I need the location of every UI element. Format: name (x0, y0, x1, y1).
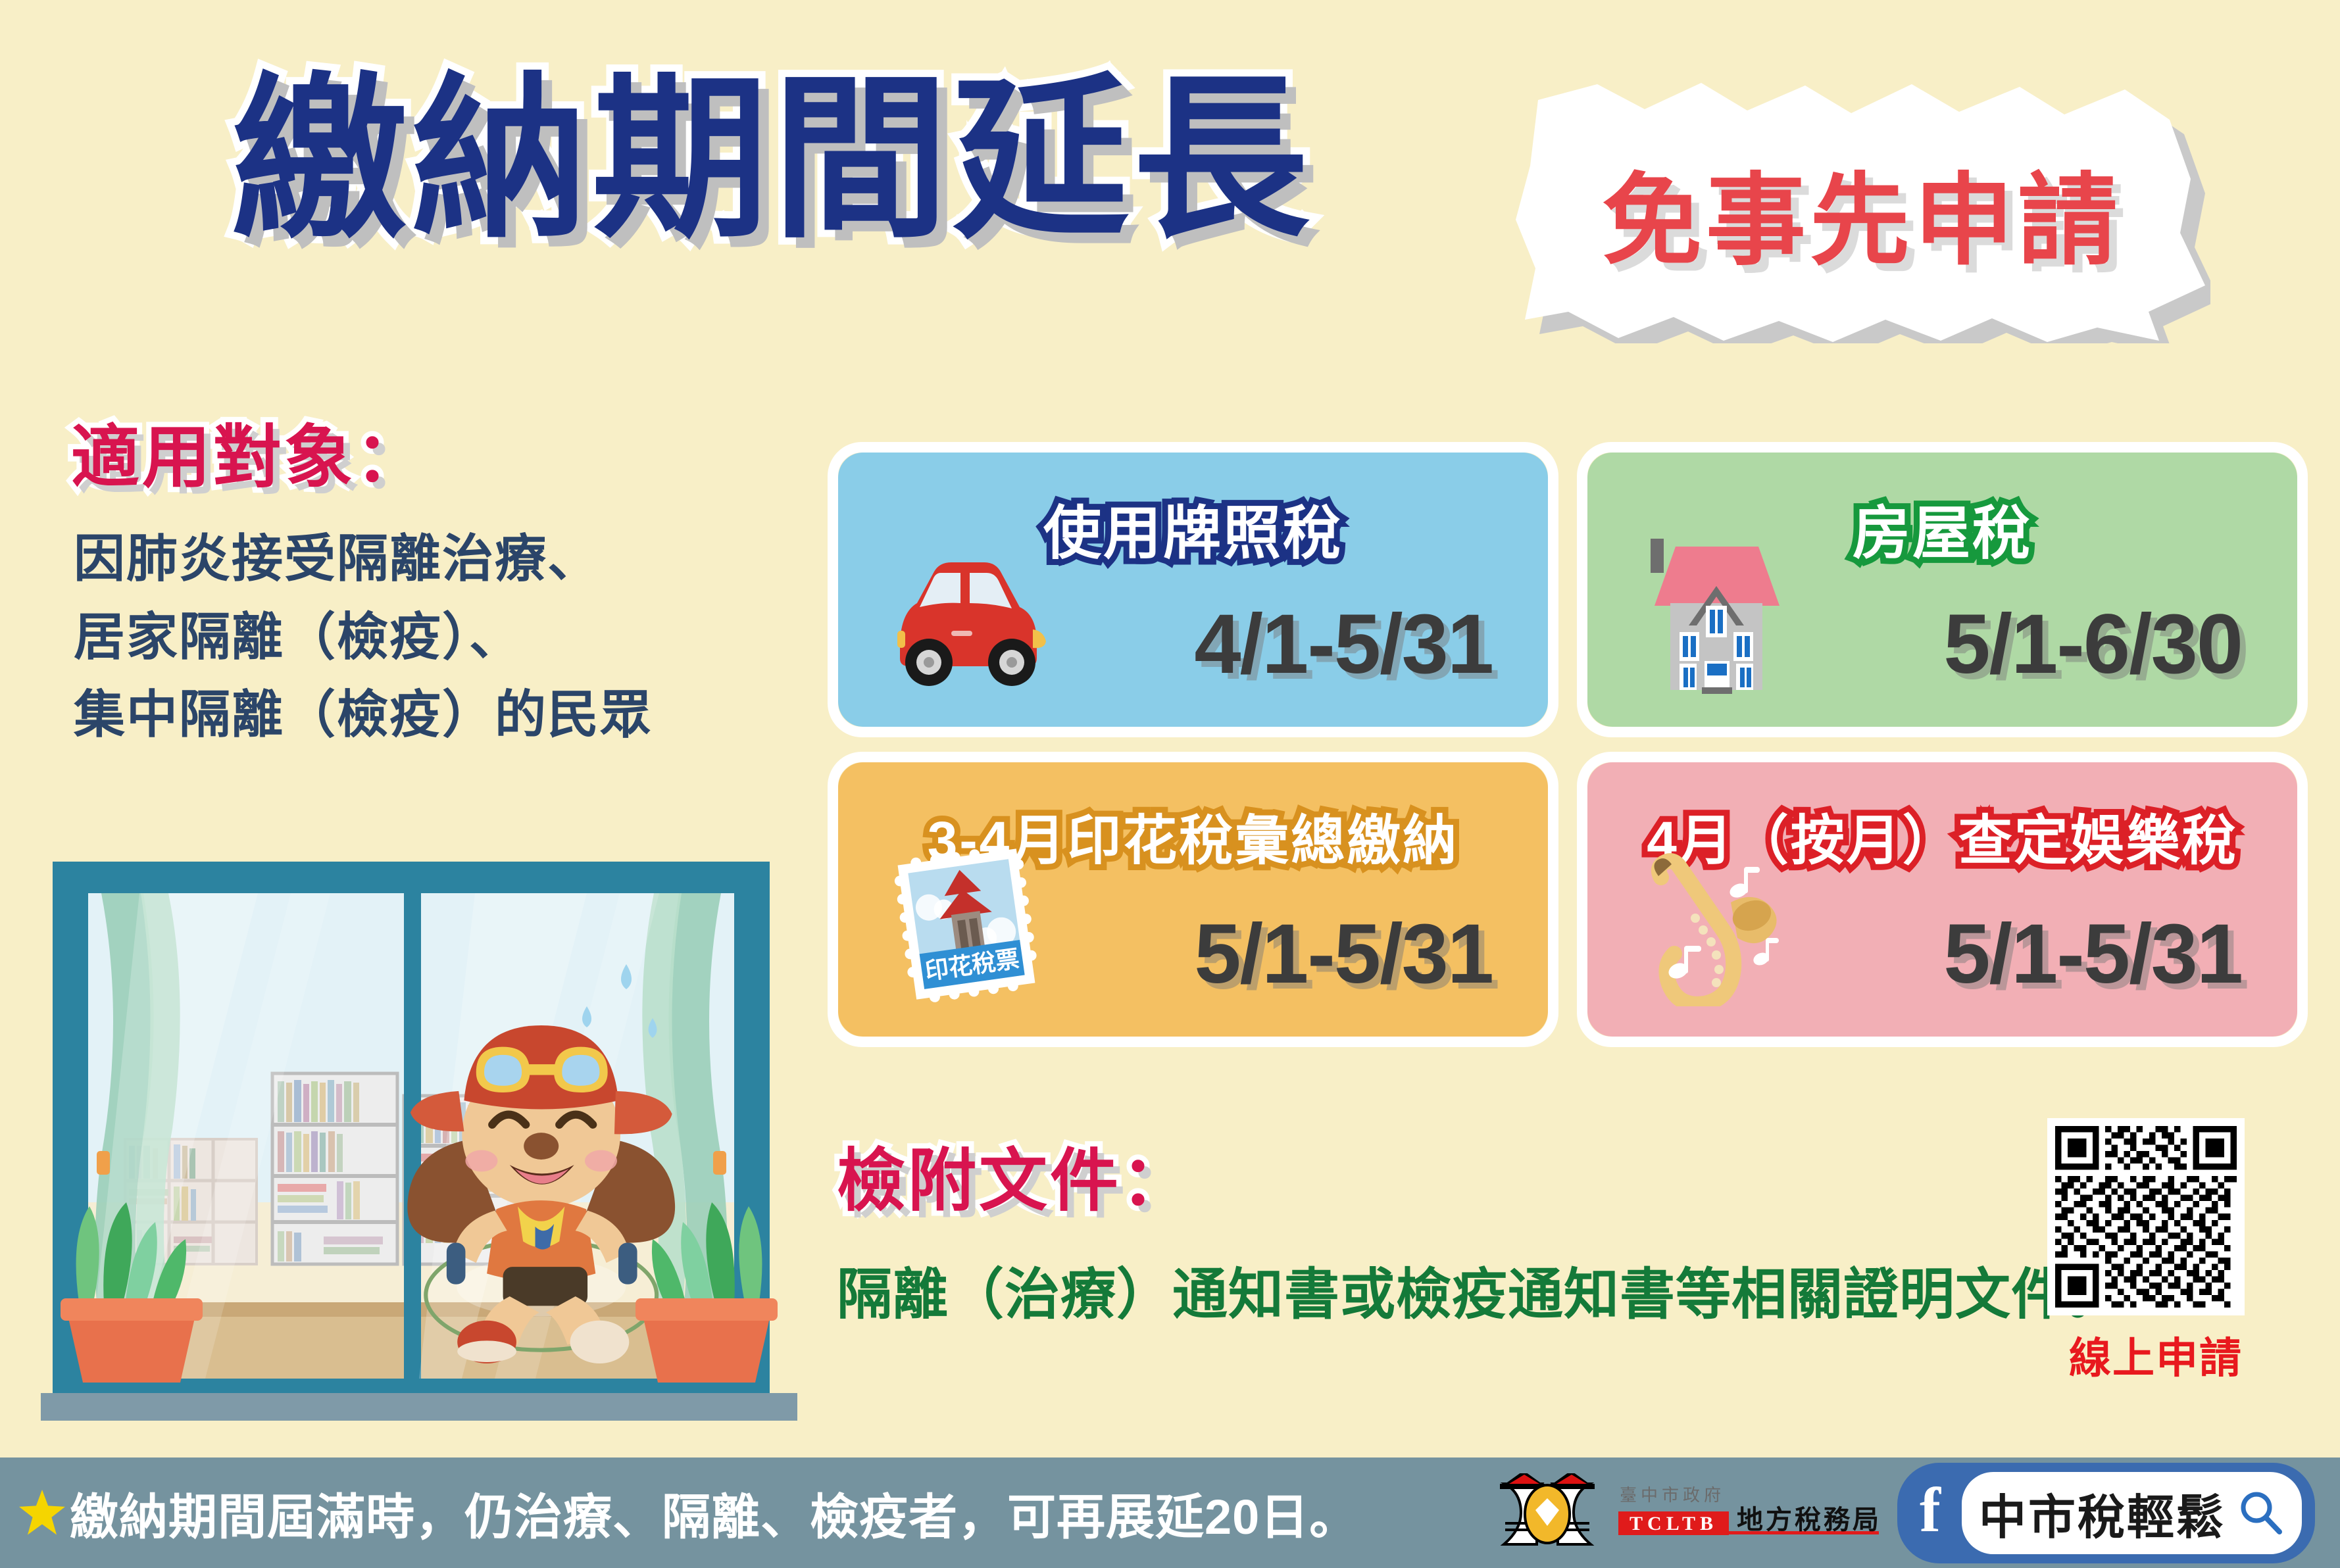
list-item: 集中隔離（檢疫）的民眾 (74, 675, 653, 754)
search-icon[interactable] (2236, 1488, 2285, 1537)
documents-section: 檢附文件： 隔離（治療）通知書或檢疫通知書等相關證明文件。 (837, 1125, 2123, 1330)
documents-heading: 檢附文件： (837, 1125, 2123, 1224)
footer-bar: 繳納期間屆滿時，仍治療、隔離、檢疫者，可再展延20日。 (0, 1458, 2340, 1568)
footer-right-group: 臺中市政府 TCLTB 地方稅務局 f 中市稅輕鬆 (1495, 1463, 2315, 1563)
qr-label: 線上申請 (2047, 1325, 2264, 1385)
card-date: 5/1-5/31 (1943, 906, 2242, 1002)
online-application-qr-block[interactable]: 線上申請 (2047, 1118, 2264, 1385)
facebook-icon: f (1916, 1483, 1950, 1543)
list-item: 因肺炎接受隔離治療、 (74, 520, 653, 598)
card-date: 4/1-5/31 (1194, 596, 1493, 693)
gov-wordmark: 臺中市政府 TCLTB 地方稅務局 (1617, 1475, 1880, 1551)
no-prior-application-badge: 免事先申請 (1513, 80, 2210, 343)
applicable-list: 因肺炎接受隔離治療、 居家隔離（檢疫）、 集中隔離（檢疫）的民眾 (74, 520, 653, 754)
window-scene-svg (41, 842, 797, 1421)
tax-card-entertainment[interactable]: 4月（按月）查定娛樂稅 (1577, 752, 2308, 1047)
list-item: 居家隔離（檢疫）、 (74, 598, 653, 676)
dog-jumping-rope-window-illustration (41, 842, 797, 1421)
tcltb-logo-icon (1495, 1473, 1600, 1552)
tax-card-stamp-duty[interactable]: 3-4月印花稅彙總繳納 (828, 752, 1558, 1047)
badge-label: 免事先申請 (1513, 80, 2210, 343)
poster-header: 繳納期間延長 免事先申請 (0, 0, 2340, 368)
facebook-page-name: 中市稅輕鬆 (1979, 1479, 2226, 1548)
saxophone-icon (1627, 842, 1805, 1006)
card-date: 5/1-6/30 (1943, 596, 2242, 693)
gov-abbr-text: TCLTB (1630, 1513, 1718, 1534)
gov-line1-text: 臺中市政府 (1620, 1485, 1725, 1505)
stamp-icon: 印花稅票 (878, 842, 1055, 1006)
poster-root: 繳納期間延長 免事先申請 適用對象： 因肺炎接受隔離治療、 居家隔離（檢疫）、 … (0, 0, 2340, 1568)
page-title: 繳納期間延長 (232, 71, 1313, 247)
car-icon (878, 532, 1055, 697)
house-icon (1627, 532, 1805, 697)
star-icon (17, 1488, 67, 1538)
facebook-page-link[interactable]: f 中市稅輕鬆 (1897, 1463, 2315, 1563)
footer-note: 繳納期間屆滿時，仍治療、隔離、檢疫者，可再展延20日。 (70, 1478, 1358, 1548)
gov-line2-text: 地方稅務局 (1737, 1506, 1880, 1534)
facebook-search-box[interactable]: 中市稅輕鬆 (1962, 1472, 2302, 1554)
documents-body: 隔離（治療）通知書或檢疫通知書等相關證明文件。 (837, 1250, 2123, 1330)
applicable-heading: 適用對象： (71, 401, 426, 501)
card-date: 5/1-5/31 (1194, 906, 1493, 1002)
tax-card-license-plate[interactable]: 使用牌照稅 4/1-5/31 (828, 442, 1558, 737)
tax-card-house[interactable]: 房屋稅 (1577, 442, 2308, 737)
qr-code-icon[interactable] (2047, 1118, 2245, 1315)
tax-card-grid: 使用牌照稅 4/1-5/31 (828, 442, 2308, 1047)
